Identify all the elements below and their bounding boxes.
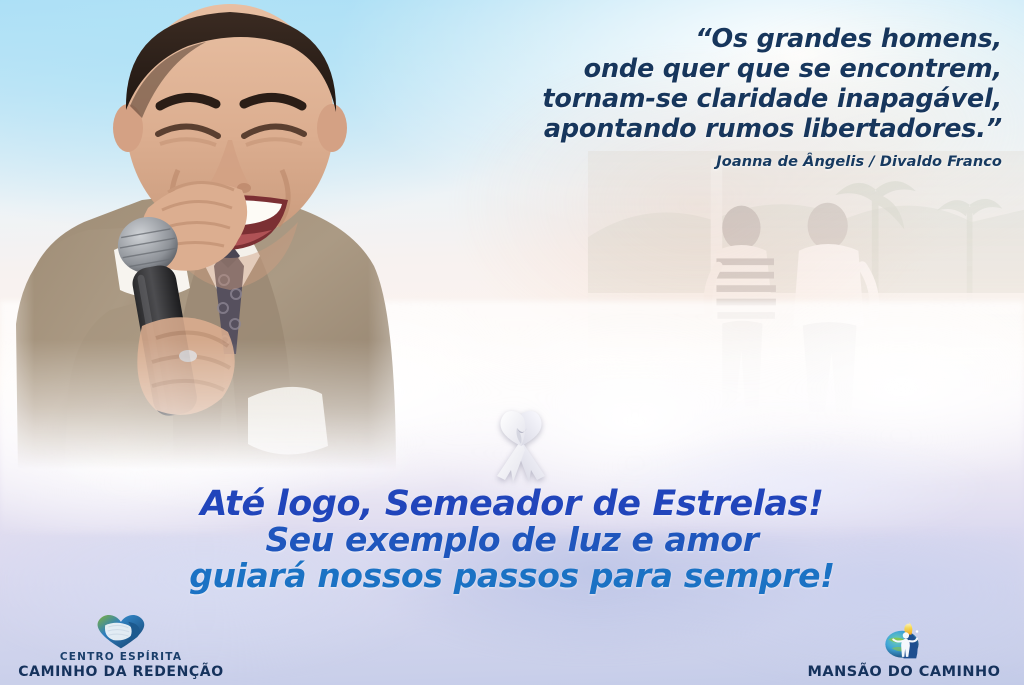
quote-line-4: apontando rumos libertadores.” (442, 114, 1002, 144)
headline-line-2: Seu exemplo de luz e amor (0, 522, 1024, 558)
tribute-banner: “Os grandes homens, onde quer que se enc… (0, 0, 1024, 685)
quote-attribution: Joanna de Ângelis / Divaldo Franco (442, 154, 1002, 170)
portrait-divaldo-franco (0, 0, 462, 474)
headline-line-1: Até logo, Semeador de Estrelas! (0, 486, 1024, 522)
headline-block: Até logo, Semeador de Estrelas! Seu exem… (0, 486, 1024, 594)
logo-left-line-2: CAMINHO DA REDENÇÃO (10, 664, 232, 681)
heart-hands-icon (10, 611, 232, 651)
logo-centro-espirita: CENTRO ESPÍRITA CAMINHO DA REDENÇÃO (10, 611, 232, 681)
quote-line-2: onde quer que se encontrem, (442, 54, 1002, 84)
quote-line-3: tornam-se claridade inapagável, (442, 84, 1002, 114)
logo-mansao-do-caminho: MANSÃO DO CAMINHO (792, 621, 1016, 681)
globe-figure-flame-icon (792, 621, 1016, 661)
headline-line-3: guiará nossos passos para sempre! (0, 558, 1024, 594)
quote-line-1: “Os grandes homens, (442, 24, 1002, 54)
white-mourning-ribbon-icon (487, 406, 555, 484)
logo-left-line-1: CENTRO ESPÍRITA (10, 651, 232, 664)
logo-right-line-1: MANSÃO DO CAMINHO (792, 663, 1016, 681)
quote-block: “Os grandes homens, onde quer que se enc… (442, 24, 1002, 170)
